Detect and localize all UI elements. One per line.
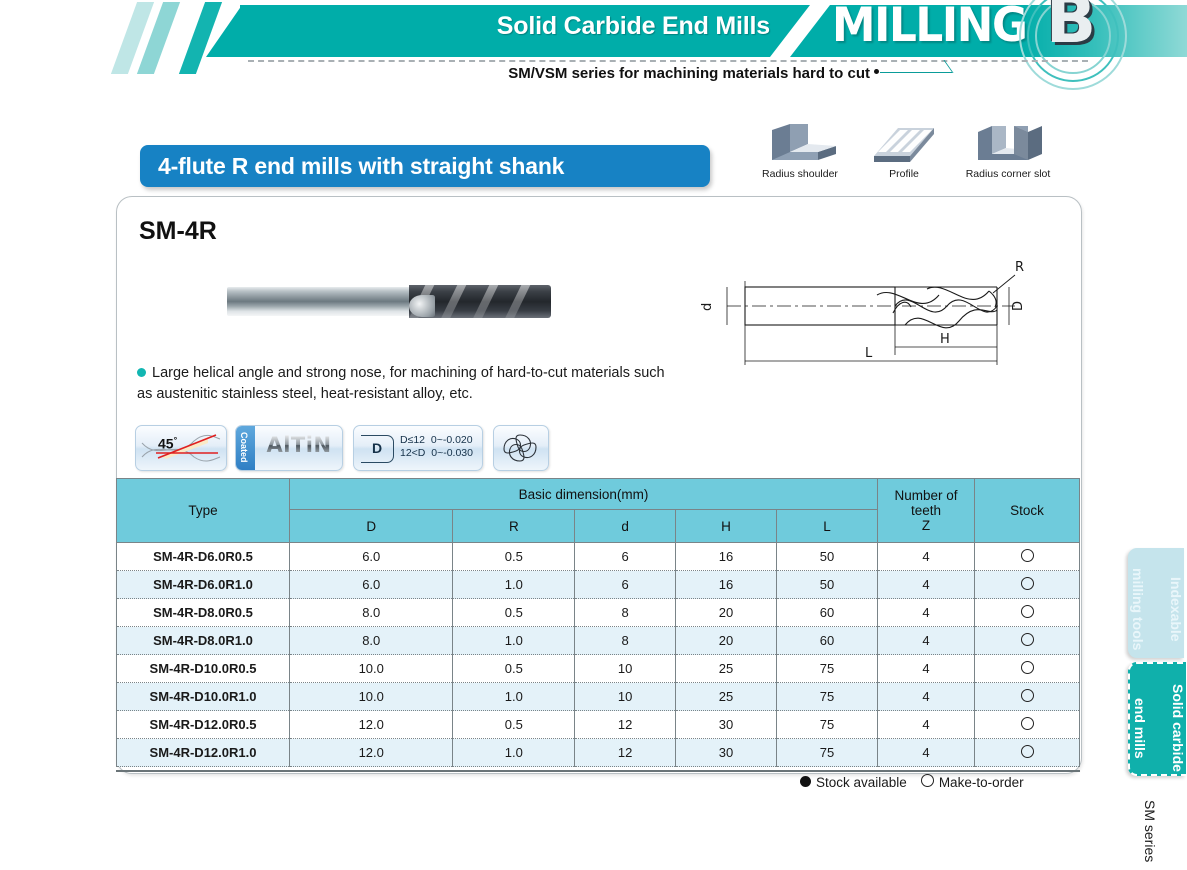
helix-angle-badge: 45° — [135, 425, 227, 471]
make-to-order-icon — [1021, 549, 1034, 562]
table-header-row-1: Type Basic dimension(mm) Number of teeth… — [117, 479, 1080, 510]
cell-stock — [975, 683, 1080, 711]
badge-letter: B — [1015, 0, 1127, 58]
cell-R: 0.5 — [453, 543, 575, 571]
cell-H: 16 — [676, 543, 777, 571]
cell-stock — [975, 711, 1080, 739]
cell-type: SM-4R-D10.0R0.5 — [117, 655, 290, 683]
cell-L: 75 — [776, 739, 877, 767]
product-photo — [227, 283, 547, 319]
cell-H: 20 — [676, 627, 777, 655]
header-section-word: MILLING — [832, 0, 1026, 53]
flute-count-badge — [493, 425, 549, 471]
subtitle-leader-diagonal — [943, 60, 997, 73]
diameter-tolerance-badge: D D≤12 0~-0.020 12<D 0~-0.030 — [353, 425, 483, 471]
cell-stock — [975, 599, 1080, 627]
col-header-basic-dimension: Basic dimension(mm) — [290, 479, 878, 510]
cell-type: SM-4R-D12.0R0.5 — [117, 711, 290, 739]
cell-H: 25 — [676, 655, 777, 683]
cell-L: 75 — [776, 683, 877, 711]
cell-d: 8 — [575, 599, 676, 627]
cell-teeth: 4 — [878, 683, 975, 711]
cell-teeth: 4 — [878, 571, 975, 599]
cell-stock — [975, 543, 1080, 571]
header-title: Solid Carbide End Mills — [430, 12, 770, 41]
sidebar-tab-label: Solid carbideend mills — [1130, 664, 1187, 772]
cell-H: 20 — [676, 599, 777, 627]
teeth-line-1: Number of — [878, 488, 974, 503]
table-row: SM-4R-D6.0R1.06.01.0616504 — [117, 571, 1080, 599]
make-to-order-icon — [1021, 605, 1034, 618]
cell-teeth: 4 — [878, 627, 975, 655]
product-feature-text: Large helical angle and strong nose, for… — [137, 363, 677, 405]
make-to-order-label: Make-to-order — [939, 775, 1024, 790]
cell-R: 1.0 — [453, 627, 575, 655]
svg-text:D: D — [1011, 301, 1026, 311]
table-row: SM-4R-D10.0R1.010.01.01025754 — [117, 683, 1080, 711]
cell-d: 10 — [575, 655, 676, 683]
sidebar-tab-solid-carbide-end-mills[interactable]: Solid carbideend mills — [1128, 662, 1186, 776]
application-icons: Radius shoulder Profile — [748, 122, 1068, 192]
cell-D: 6.0 — [290, 571, 453, 599]
cell-L: 75 — [776, 655, 877, 683]
application-radius-corner-slot: Radius corner slot — [956, 122, 1060, 180]
table-bottom-rule — [116, 770, 1080, 772]
cell-type: SM-4R-D8.0R0.5 — [117, 599, 290, 627]
subtitle-leader-line — [880, 72, 952, 73]
subtitle-leader-dot — [874, 69, 879, 74]
sidebar-tab-label: Indexablemilling tools — [1128, 548, 1185, 650]
cell-D: 8.0 — [290, 627, 453, 655]
cell-teeth: 4 — [878, 655, 975, 683]
cell-L: 75 — [776, 711, 877, 739]
cell-d: 10 — [575, 683, 676, 711]
svg-text:d: d — [700, 303, 715, 311]
cell-type: SM-4R-D6.0R0.5 — [117, 543, 290, 571]
end-mill-shank — [227, 287, 412, 316]
cell-L: 50 — [776, 543, 877, 571]
make-to-order-icon — [1021, 745, 1034, 758]
cell-R: 1.0 — [453, 683, 575, 711]
product-sku: SM-4R — [139, 217, 217, 246]
cell-D: 6.0 — [290, 543, 453, 571]
cell-D: 8.0 — [290, 599, 453, 627]
application-caption: Radius corner slot — [956, 168, 1060, 180]
cell-type: SM-4R-D12.0R1.0 — [117, 739, 290, 767]
section-badge: B — [1015, 0, 1127, 90]
cell-R: 0.5 — [453, 711, 575, 739]
cell-d: 6 — [575, 571, 676, 599]
col-header-H: H — [676, 510, 777, 543]
make-to-order-icon — [921, 774, 934, 787]
specification-table: Type Basic dimension(mm) Number of teeth… — [116, 478, 1080, 767]
radius-shoulder-icon — [748, 122, 852, 168]
series-label: SM series — [1142, 800, 1158, 862]
cell-d: 12 — [575, 739, 676, 767]
application-radius-shoulder: Radius shoulder — [748, 122, 852, 180]
cell-teeth: 4 — [878, 599, 975, 627]
svg-text:L: L — [865, 346, 873, 361]
table-row: SM-4R-D12.0R1.012.01.01230754 — [117, 739, 1080, 767]
table-row: SM-4R-D8.0R0.58.00.5820604 — [117, 599, 1080, 627]
col-header-D: D — [290, 510, 453, 543]
cell-R: 1.0 — [453, 739, 575, 767]
cell-stock — [975, 655, 1080, 683]
teeth-line-3: Z — [878, 518, 974, 533]
cell-L: 50 — [776, 571, 877, 599]
col-header-number-of-teeth: Number of teeth Z — [878, 479, 975, 543]
technical-drawing: d D R H L — [697, 255, 1067, 380]
application-profile: Profile — [852, 122, 956, 180]
cell-teeth: 4 — [878, 711, 975, 739]
diameter-tag: D — [361, 435, 394, 463]
make-to-order-icon — [1021, 577, 1034, 590]
cell-H: 16 — [676, 571, 777, 599]
table-row: SM-4R-D10.0R0.510.00.51025754 — [117, 655, 1080, 683]
col-header-stock: Stock — [975, 479, 1080, 543]
bullet-dot-icon — [137, 368, 146, 377]
coated-tab: Coated — [236, 426, 255, 470]
coating-name: AlTiN — [258, 433, 340, 457]
svg-text:R: R — [1015, 260, 1024, 275]
cell-d: 12 — [575, 711, 676, 739]
cell-D: 10.0 — [290, 683, 453, 711]
make-to-order-icon — [1021, 633, 1034, 646]
application-caption: Radius shoulder — [748, 168, 852, 180]
col-header-type: Type — [117, 479, 290, 543]
cell-R: 0.5 — [453, 655, 575, 683]
col-header-R: R — [453, 510, 575, 543]
cell-stock — [975, 571, 1080, 599]
cell-H: 30 — [676, 739, 777, 767]
col-header-d: d — [575, 510, 676, 543]
header-subtitle: SM/VSM series for machining materials ha… — [330, 65, 870, 82]
feature-badges: 45° Coated AlTiN D D≤12 0~-0.020 12<D 0~… — [135, 425, 555, 473]
col-header-L: L — [776, 510, 877, 543]
sidebar-tab-indexable-milling-tools[interactable]: Indexablemilling tools — [1128, 548, 1184, 658]
cell-teeth: 4 — [878, 543, 975, 571]
application-caption: Profile — [852, 168, 956, 180]
table-row: SM-4R-D12.0R0.512.00.51230754 — [117, 711, 1080, 739]
cell-type: SM-4R-D8.0R1.0 — [117, 627, 290, 655]
table-body: SM-4R-D6.0R0.56.00.5616504SM-4R-D6.0R1.0… — [117, 543, 1080, 767]
stock-legend: Stock availableMake-to-order — [800, 774, 1024, 790]
cell-type: SM-4R-D6.0R1.0 — [117, 571, 290, 599]
make-to-order-icon — [1021, 661, 1034, 674]
coated-label: Coated — [239, 432, 249, 454]
make-to-order-icon — [1021, 717, 1034, 730]
cell-D: 12.0 — [290, 711, 453, 739]
cell-d: 6 — [575, 543, 676, 571]
coating-badge: Coated AlTiN — [235, 425, 343, 471]
cell-d: 8 — [575, 627, 676, 655]
feature-description: Large helical angle and strong nose, for… — [137, 365, 665, 402]
stock-available-icon — [800, 776, 811, 787]
page-header: Solid Carbide End Mills MILLING B — [0, 0, 1187, 60]
cell-D: 10.0 — [290, 655, 453, 683]
cell-L: 60 — [776, 627, 877, 655]
radius-corner-slot-icon — [956, 122, 1060, 168]
stock-available-label: Stock available — [816, 775, 907, 790]
product-family-banner: 4-flute R end mills with straight shank — [140, 145, 710, 187]
table-row: SM-4R-D6.0R0.56.00.5616504 — [117, 543, 1080, 571]
table-head: Type Basic dimension(mm) Number of teeth… — [117, 479, 1080, 543]
end-mill-nose — [409, 295, 435, 317]
cell-teeth: 4 — [878, 739, 975, 767]
cell-H: 30 — [676, 711, 777, 739]
table-row: SM-4R-D8.0R1.08.01.0820604 — [117, 627, 1080, 655]
cell-stock — [975, 739, 1080, 767]
cell-L: 60 — [776, 599, 877, 627]
cell-R: 1.0 — [453, 571, 575, 599]
tolerance-values: D≤12 0~-0.020 12<D 0~-0.030 — [400, 434, 473, 460]
profile-icon — [852, 122, 956, 168]
svg-text:H: H — [940, 332, 950, 347]
cell-stock — [975, 627, 1080, 655]
teeth-line-2: teeth — [878, 503, 974, 518]
cell-D: 12.0 — [290, 739, 453, 767]
cell-type: SM-4R-D10.0R1.0 — [117, 683, 290, 711]
cell-R: 0.5 — [453, 599, 575, 627]
cell-H: 25 — [676, 683, 777, 711]
make-to-order-icon — [1021, 689, 1034, 702]
product-family-label: 4-flute R end mills with straight shank — [140, 145, 710, 187]
helix-angle-value: 45° — [158, 435, 177, 452]
